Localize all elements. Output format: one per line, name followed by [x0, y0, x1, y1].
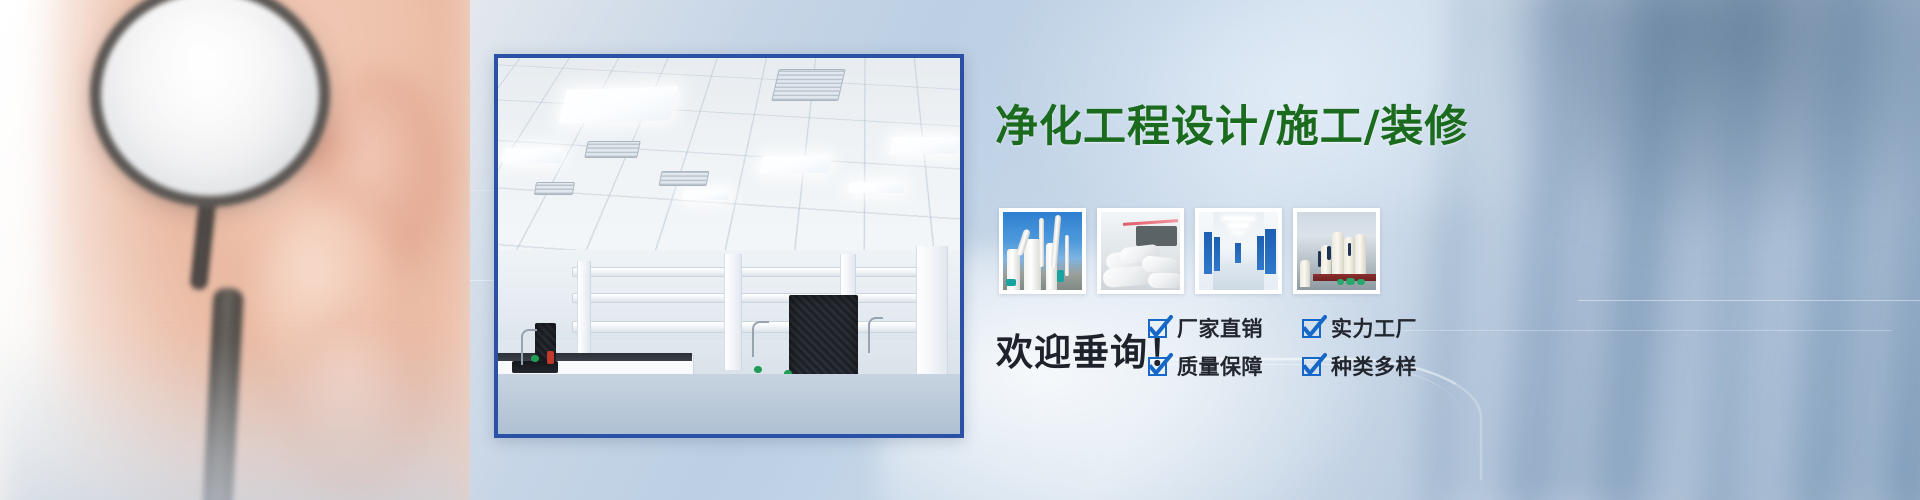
- ceiling-light-1: [558, 86, 678, 124]
- stethoscope-photo: [0, 0, 470, 500]
- ceiling-vent-2: [584, 141, 640, 158]
- feature-item: 实力工厂: [1302, 313, 1417, 343]
- green-valve-1: [531, 355, 538, 362]
- thumbnail-item[interactable]: [999, 208, 1086, 294]
- feature-item: 种类多样: [1302, 351, 1417, 381]
- shelf-post-4: [916, 246, 948, 374]
- thumbnail-image-scrubbers: [1003, 212, 1082, 290]
- thumbnail-strip: [999, 208, 1380, 294]
- checkbox-checked-icon: [1148, 319, 1167, 338]
- ceiling-light-2: [501, 148, 565, 163]
- lab-floor: [498, 374, 960, 434]
- ceiling-vent-4: [534, 182, 575, 195]
- red-valve-knob: [547, 351, 554, 364]
- lab-scene: [498, 58, 960, 434]
- checkbox-checked-icon: [1148, 357, 1167, 376]
- feature-checklist: 厂家直销 实力工厂 质量保障 种类多样: [1148, 313, 1417, 381]
- ceiling-light-4: [889, 137, 962, 154]
- thumbnail-image-rooftop-tanks: [1297, 212, 1376, 290]
- faucet-3: [868, 317, 884, 353]
- ceiling-light-3: [760, 156, 833, 173]
- thumbnail-image-corridor: [1199, 212, 1278, 290]
- checkbox-checked-icon: [1302, 319, 1321, 338]
- feature-label: 实力工厂: [1331, 313, 1417, 343]
- main-laboratory-photo: [494, 54, 964, 438]
- feature-label: 种类多样: [1331, 351, 1417, 381]
- thumbnail-image-ductwork: [1101, 212, 1180, 290]
- faucet-2: [752, 321, 769, 357]
- shelf-rail-top: [572, 267, 934, 277]
- shelf-rail-mid: [572, 293, 934, 303]
- feature-item: 质量保障: [1148, 351, 1263, 381]
- page-title: 净化工程设计/施工/装修: [995, 102, 1468, 153]
- cloth-shadow: [0, 340, 470, 500]
- promo-banner: 净化工程设计/施工/装修: [0, 0, 1920, 500]
- ceiling-vent-3: [658, 171, 709, 186]
- shelf-post-1: [577, 261, 591, 363]
- chestpiece-highlight: [120, 12, 300, 180]
- ceiling-light-6: [682, 190, 730, 200]
- green-valve-2: [754, 366, 761, 373]
- feature-item: 厂家直销: [1148, 313, 1263, 343]
- thumbnail-item[interactable]: [1097, 208, 1184, 294]
- checkbox-checked-icon: [1302, 357, 1321, 376]
- feature-label: 质量保障: [1177, 351, 1263, 381]
- feature-label: 厂家直销: [1177, 313, 1263, 343]
- shelf-post-2: [724, 254, 742, 371]
- thumbnail-item[interactable]: [1195, 208, 1282, 294]
- ceiling-vent-1: [771, 69, 845, 101]
- thumbnail-item[interactable]: [1293, 208, 1380, 294]
- ceiling-light-5: [848, 182, 905, 193]
